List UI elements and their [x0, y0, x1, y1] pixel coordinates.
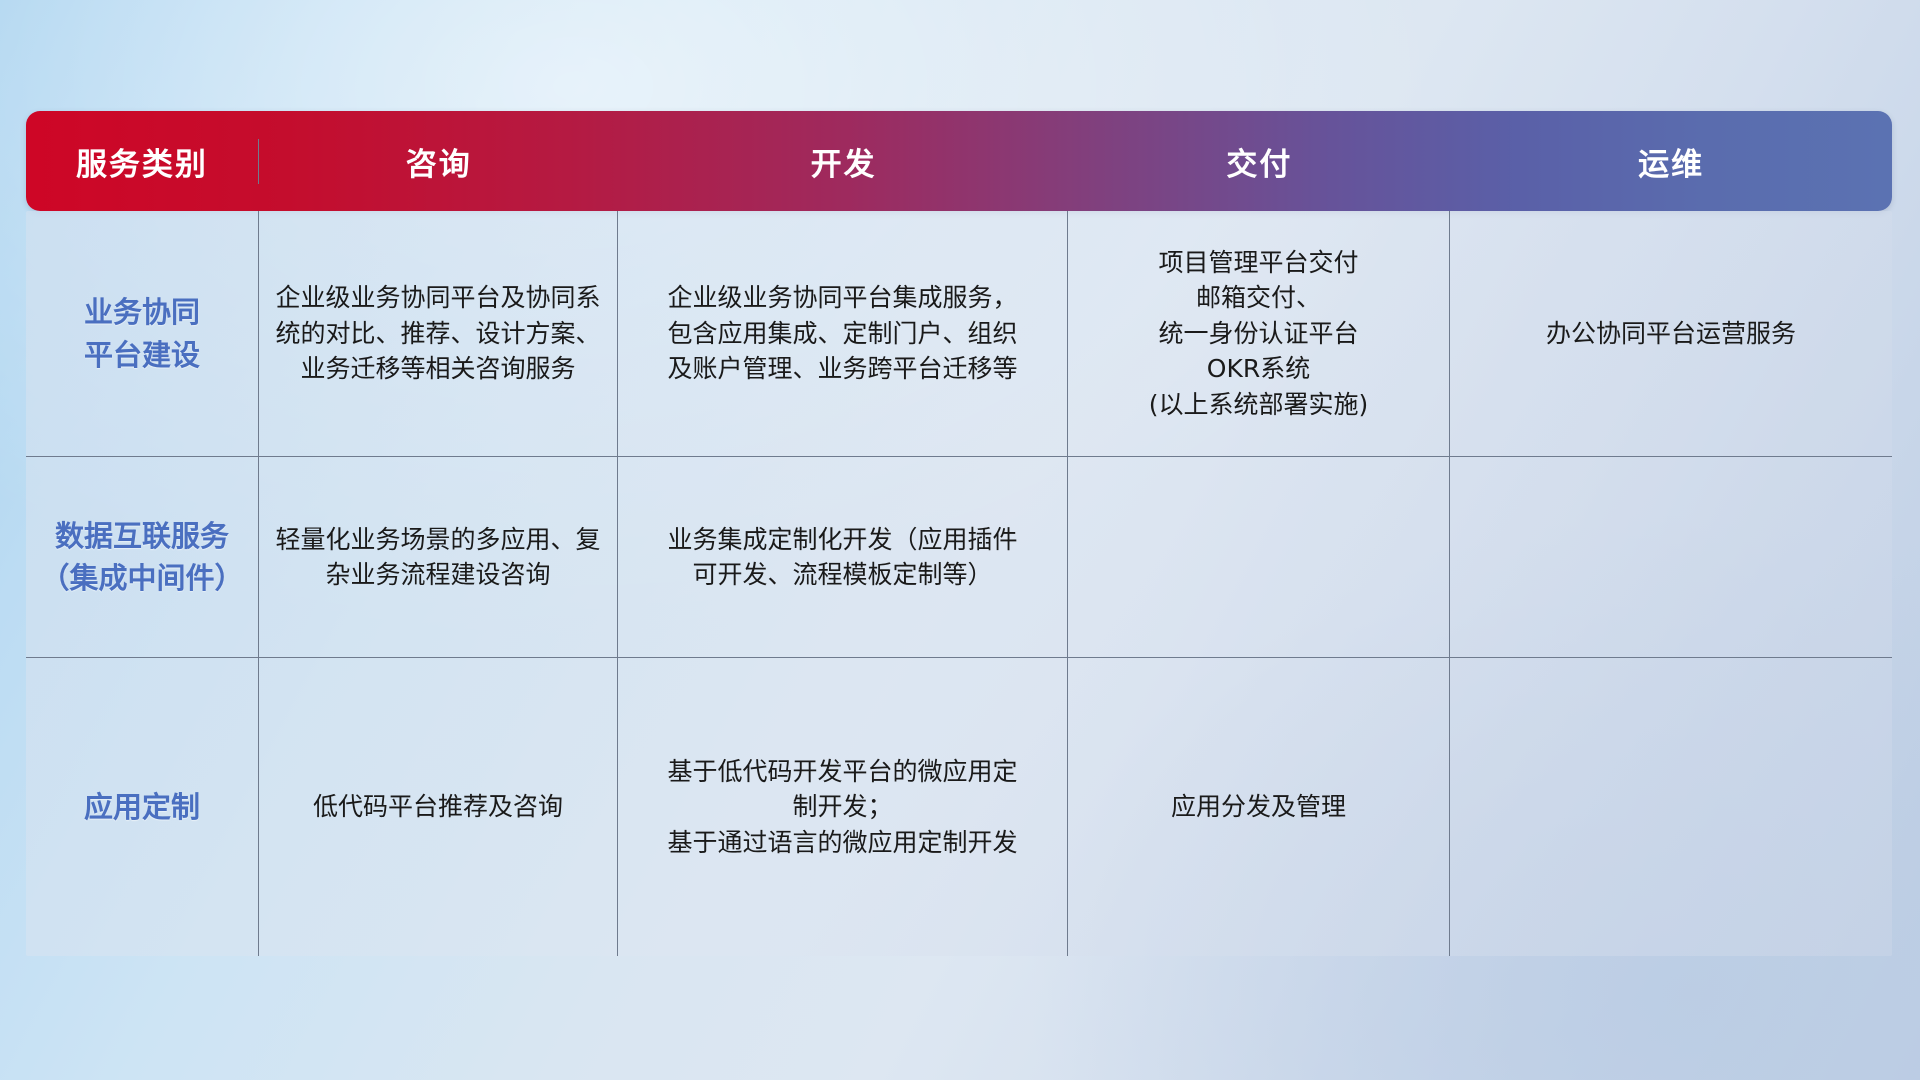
table-row: 应用定制 低代码平台推荐及咨询 基于低代码开发平台的微应用定 制开发； 基于通过…	[26, 658, 1892, 956]
cell-text: 企业级业务协同平台集成服务， 包含应用集成、定制门户、组织 及账户管理、业务跨平…	[667, 280, 1017, 387]
cell-text: 业务集成定制化开发（应用插件 可开发、流程模板定制等）	[667, 522, 1017, 593]
row-label-cell: 数据互联服务 （集成中间件）	[26, 457, 258, 657]
cell-text: 低代码平台推荐及咨询	[313, 789, 563, 825]
cell-consulting: 轻量化业务场景的多应用、复 杂业务流程建设咨询	[258, 457, 618, 657]
cell-text: 企业级业务协同平台及协同系 统的对比、推荐、设计方案、 业务迁移等相关咨询服务	[275, 280, 600, 387]
cell-operations	[1450, 457, 1892, 657]
row-label: 业务协同 平台建设	[84, 291, 200, 375]
table-body: 业务协同 平台建设 企业级业务协同平台及协同系 统的对比、推荐、设计方案、 业务…	[26, 211, 1892, 956]
column-header-operations: 运维	[1450, 139, 1892, 184]
cell-text: 轻量化业务场景的多应用、复 杂业务流程建设咨询	[275, 522, 600, 593]
row-label: 应用定制	[84, 786, 200, 828]
cell-development: 企业级业务协同平台集成服务， 包含应用集成、定制门户、组织 及账户管理、业务跨平…	[618, 211, 1068, 456]
cell-operations	[1450, 658, 1892, 956]
cell-text: 应用分发及管理	[1171, 789, 1346, 825]
cell-text: 基于低代码开发平台的微应用定 制开发； 基于通过语言的微应用定制开发	[667, 754, 1017, 861]
cell-development: 业务集成定制化开发（应用插件 可开发、流程模板定制等）	[618, 457, 1068, 657]
table-row: 业务协同 平台建设 企业级业务协同平台及协同系 统的对比、推荐、设计方案、 业务…	[26, 211, 1892, 457]
row-label-cell: 应用定制	[26, 658, 258, 956]
slide-canvas: 服务类别 咨询 开发 交付 运维 业务协同 平台建设 企业级业务协同平台及协同系…	[0, 0, 1920, 1080]
column-header-consulting: 咨询	[258, 139, 619, 184]
cell-text: 项目管理平台交付 邮箱交付、 统一身份认证平台 OKR系统 (以上系统部署实施)	[1149, 245, 1369, 423]
service-category-table: 服务类别 咨询 开发 交付 运维 业务协同 平台建设 企业级业务协同平台及协同系…	[26, 111, 1892, 954]
cell-consulting: 企业级业务协同平台及协同系 统的对比、推荐、设计方案、 业务迁移等相关咨询服务	[258, 211, 618, 456]
cell-development: 基于低代码开发平台的微应用定 制开发； 基于通过语言的微应用定制开发	[618, 658, 1068, 956]
column-header-category: 服务类别	[26, 139, 258, 184]
cell-operations: 办公协同平台运营服务	[1450, 211, 1892, 456]
cell-consulting: 低代码平台推荐及咨询	[258, 658, 618, 956]
cell-delivery	[1068, 457, 1450, 657]
cell-delivery: 项目管理平台交付 邮箱交付、 统一身份认证平台 OKR系统 (以上系统部署实施)	[1068, 211, 1450, 456]
row-label-cell: 业务协同 平台建设	[26, 211, 258, 456]
column-header-delivery: 交付	[1068, 139, 1450, 184]
cell-text: 办公协同平台运营服务	[1546, 316, 1796, 352]
row-label: 数据互联服务 （集成中间件）	[40, 515, 243, 599]
table-row: 数据互联服务 （集成中间件） 轻量化业务场景的多应用、复 杂业务流程建设咨询 业…	[26, 457, 1892, 658]
table-header-row: 服务类别 咨询 开发 交付 运维	[26, 111, 1892, 211]
cell-delivery: 应用分发及管理	[1068, 658, 1450, 956]
column-header-development: 开发	[619, 139, 1069, 184]
